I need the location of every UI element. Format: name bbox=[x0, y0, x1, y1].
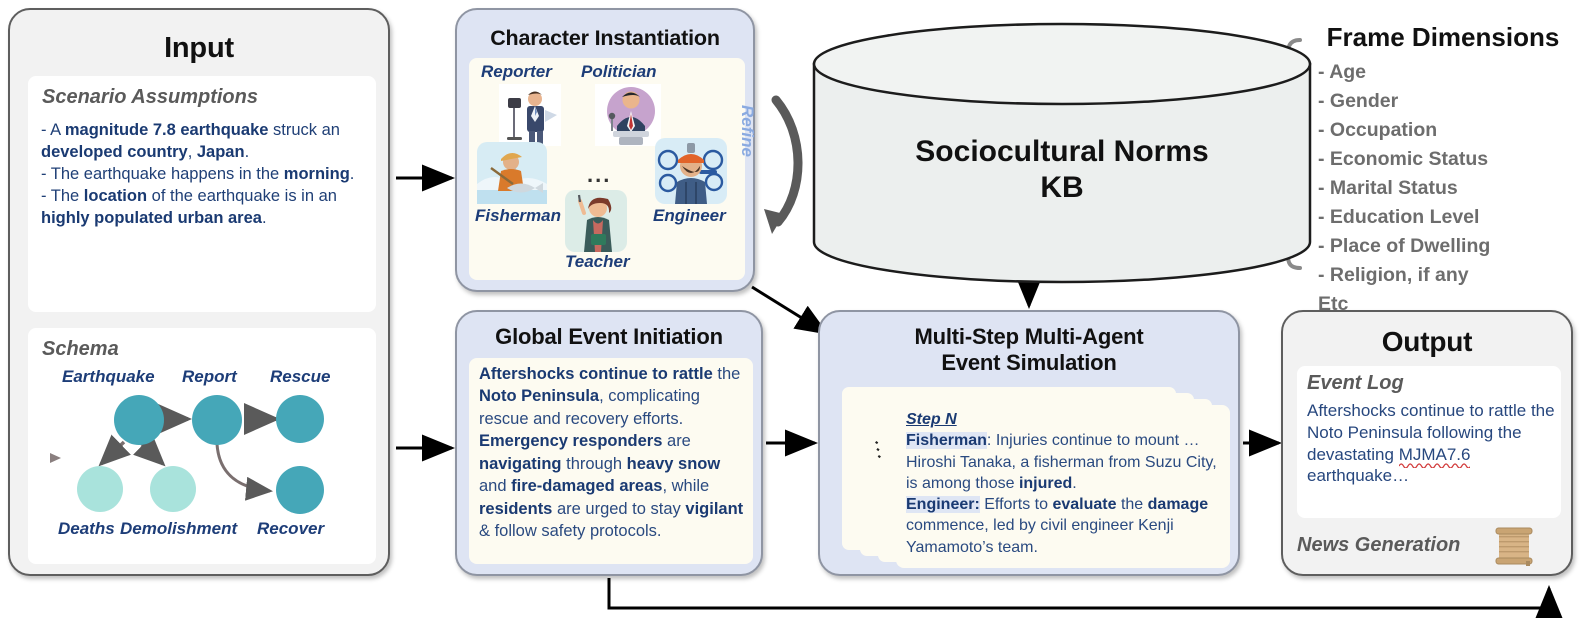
feedback-loop-arrow bbox=[609, 578, 1549, 608]
character-label-fisherman: Fisherman bbox=[475, 206, 561, 226]
frame-dimension-item: - Marital Status bbox=[1318, 174, 1568, 203]
output-panel-title: Output bbox=[1283, 326, 1571, 358]
news-generation-row: News Generation bbox=[1297, 530, 1561, 566]
schema-node-demolishment bbox=[150, 466, 196, 512]
arrow-character-to-simulation bbox=[752, 287, 826, 333]
fisherman-avatar bbox=[477, 142, 547, 204]
input-panel: Input Scenario Assumptions - A magnitude… bbox=[8, 8, 390, 576]
output-panel: Output Event Log Aftershocks continue to… bbox=[1281, 310, 1573, 576]
politician-avatar bbox=[595, 84, 661, 146]
reporter-avatar bbox=[499, 84, 561, 146]
refine-arrow bbox=[776, 100, 798, 222]
global-event-initiation-card: Aftershocks continue to rattle the Noto … bbox=[469, 358, 753, 564]
teacher-avatar bbox=[565, 190, 627, 252]
scenario-assumptions-label: Scenario Assumptions bbox=[42, 86, 258, 109]
frame-dimension-item: - Age bbox=[1318, 58, 1568, 87]
frame-dimension-item: - Place of Dwelling bbox=[1318, 232, 1568, 261]
global-event-initiation-title: Global Event Initiation bbox=[457, 324, 761, 350]
step-label: Step N bbox=[906, 411, 957, 428]
schema-edge-earthquake-demolishment bbox=[140, 442, 163, 464]
schema-edge-earthquake-deaths bbox=[101, 442, 124, 464]
character-label-teacher: Teacher bbox=[565, 252, 630, 272]
character-instantiation-title: Character Instantiation bbox=[457, 26, 753, 51]
global-event-initiation-text: Aftershocks continue to rattle the Noto … bbox=[479, 363, 747, 543]
event-log-label: Event Log bbox=[1307, 372, 1404, 395]
frame-dimension-item: - Occupation bbox=[1318, 116, 1568, 145]
schema-card: Schema bbox=[28, 328, 376, 564]
schema-graph: Earthquake Report Rescue Deaths Demolish… bbox=[28, 362, 376, 562]
schema-label-report: Report bbox=[182, 367, 237, 387]
character-instantiation-panel: Character Instantiation Reporter bbox=[455, 8, 755, 292]
character-label-reporter: Reporter bbox=[481, 62, 552, 82]
schema-label-rescue: Rescue bbox=[270, 367, 330, 387]
event-simulation-panel: Multi-Step Multi-Agent Event Simulation … bbox=[818, 310, 1240, 576]
kb-title: Sociocultural Norms KB bbox=[812, 134, 1312, 206]
refine-label: Refine bbox=[737, 105, 757, 157]
schema-node-earthquake bbox=[114, 395, 164, 445]
character-ellipsis: ... bbox=[587, 162, 611, 188]
schema-node-report bbox=[192, 395, 242, 445]
event-simulation-title: Multi-Step Multi-Agent Event Simulation bbox=[820, 324, 1238, 376]
event-log-text: Aftershocks continue to rattle the Noto … bbox=[1307, 400, 1555, 487]
frame-dimension-item: - Religion, if any bbox=[1318, 261, 1568, 290]
schema-label-demolishment: Demolishment bbox=[120, 519, 237, 539]
frame-dimension-item: - Economic Status bbox=[1318, 145, 1568, 174]
schema-label-earthquake: Earthquake bbox=[62, 367, 155, 387]
schema-label-recover: Recover bbox=[257, 519, 324, 539]
frame-dimensions-list: - Age - Gender - Occupation - Economic S… bbox=[1318, 58, 1568, 319]
global-event-initiation-panel: Global Event Initiation Aftershocks cont… bbox=[455, 310, 763, 576]
schema-label-deaths: Deaths bbox=[58, 519, 115, 539]
frame-dimension-item: - Education Level bbox=[1318, 203, 1568, 232]
simulation-step-text: Step N Fisherman: Injuries continue to m… bbox=[906, 409, 1226, 558]
character-grid: Reporter Politician bbox=[469, 58, 745, 280]
schema-edge-report-recover bbox=[217, 444, 270, 491]
scenario-assumptions-text: - A magnitude 7.8 earthquake struck an d… bbox=[41, 120, 367, 230]
diagram-canvas: Input Scenario Assumptions - A magnitude… bbox=[0, 0, 1581, 620]
frame-dimensions-title: Frame Dimensions bbox=[1310, 22, 1576, 53]
scenario-assumptions-card: Scenario Assumptions - A magnitude 7.8 e… bbox=[28, 76, 376, 312]
character-label-politician: Politician bbox=[581, 62, 657, 82]
schema-label: Schema bbox=[42, 338, 119, 361]
sociocultural-norms-kb: Sociocultural Norms KB bbox=[812, 22, 1312, 284]
news-generation-label: News Generation bbox=[1297, 534, 1460, 557]
schema-node-rescue bbox=[276, 395, 324, 443]
simulation-step-card: Step N Fisherman: Injuries continue to m… bbox=[896, 405, 1230, 568]
agent-name-engineer: Engineer: bbox=[906, 496, 980, 513]
input-panel-title: Input bbox=[10, 32, 388, 65]
schema-node-recover bbox=[276, 466, 324, 514]
engineer-avatar bbox=[655, 138, 727, 204]
character-label-engineer: Engineer bbox=[653, 206, 726, 226]
event-log-card: Event Log Aftershocks continue to rattle… bbox=[1297, 366, 1561, 518]
schema-node-deaths bbox=[77, 466, 123, 512]
kb-cylinder-top bbox=[814, 24, 1310, 104]
frame-dimension-item: - Gender bbox=[1318, 87, 1568, 116]
agent-name-fisherman: Fisherman bbox=[906, 432, 987, 449]
schema-stray-marker bbox=[50, 453, 61, 463]
refine-arrowhead bbox=[764, 209, 784, 234]
spellcheck-term: MJMA7.6 bbox=[1399, 444, 1471, 466]
scroll-icon bbox=[1493, 524, 1535, 573]
